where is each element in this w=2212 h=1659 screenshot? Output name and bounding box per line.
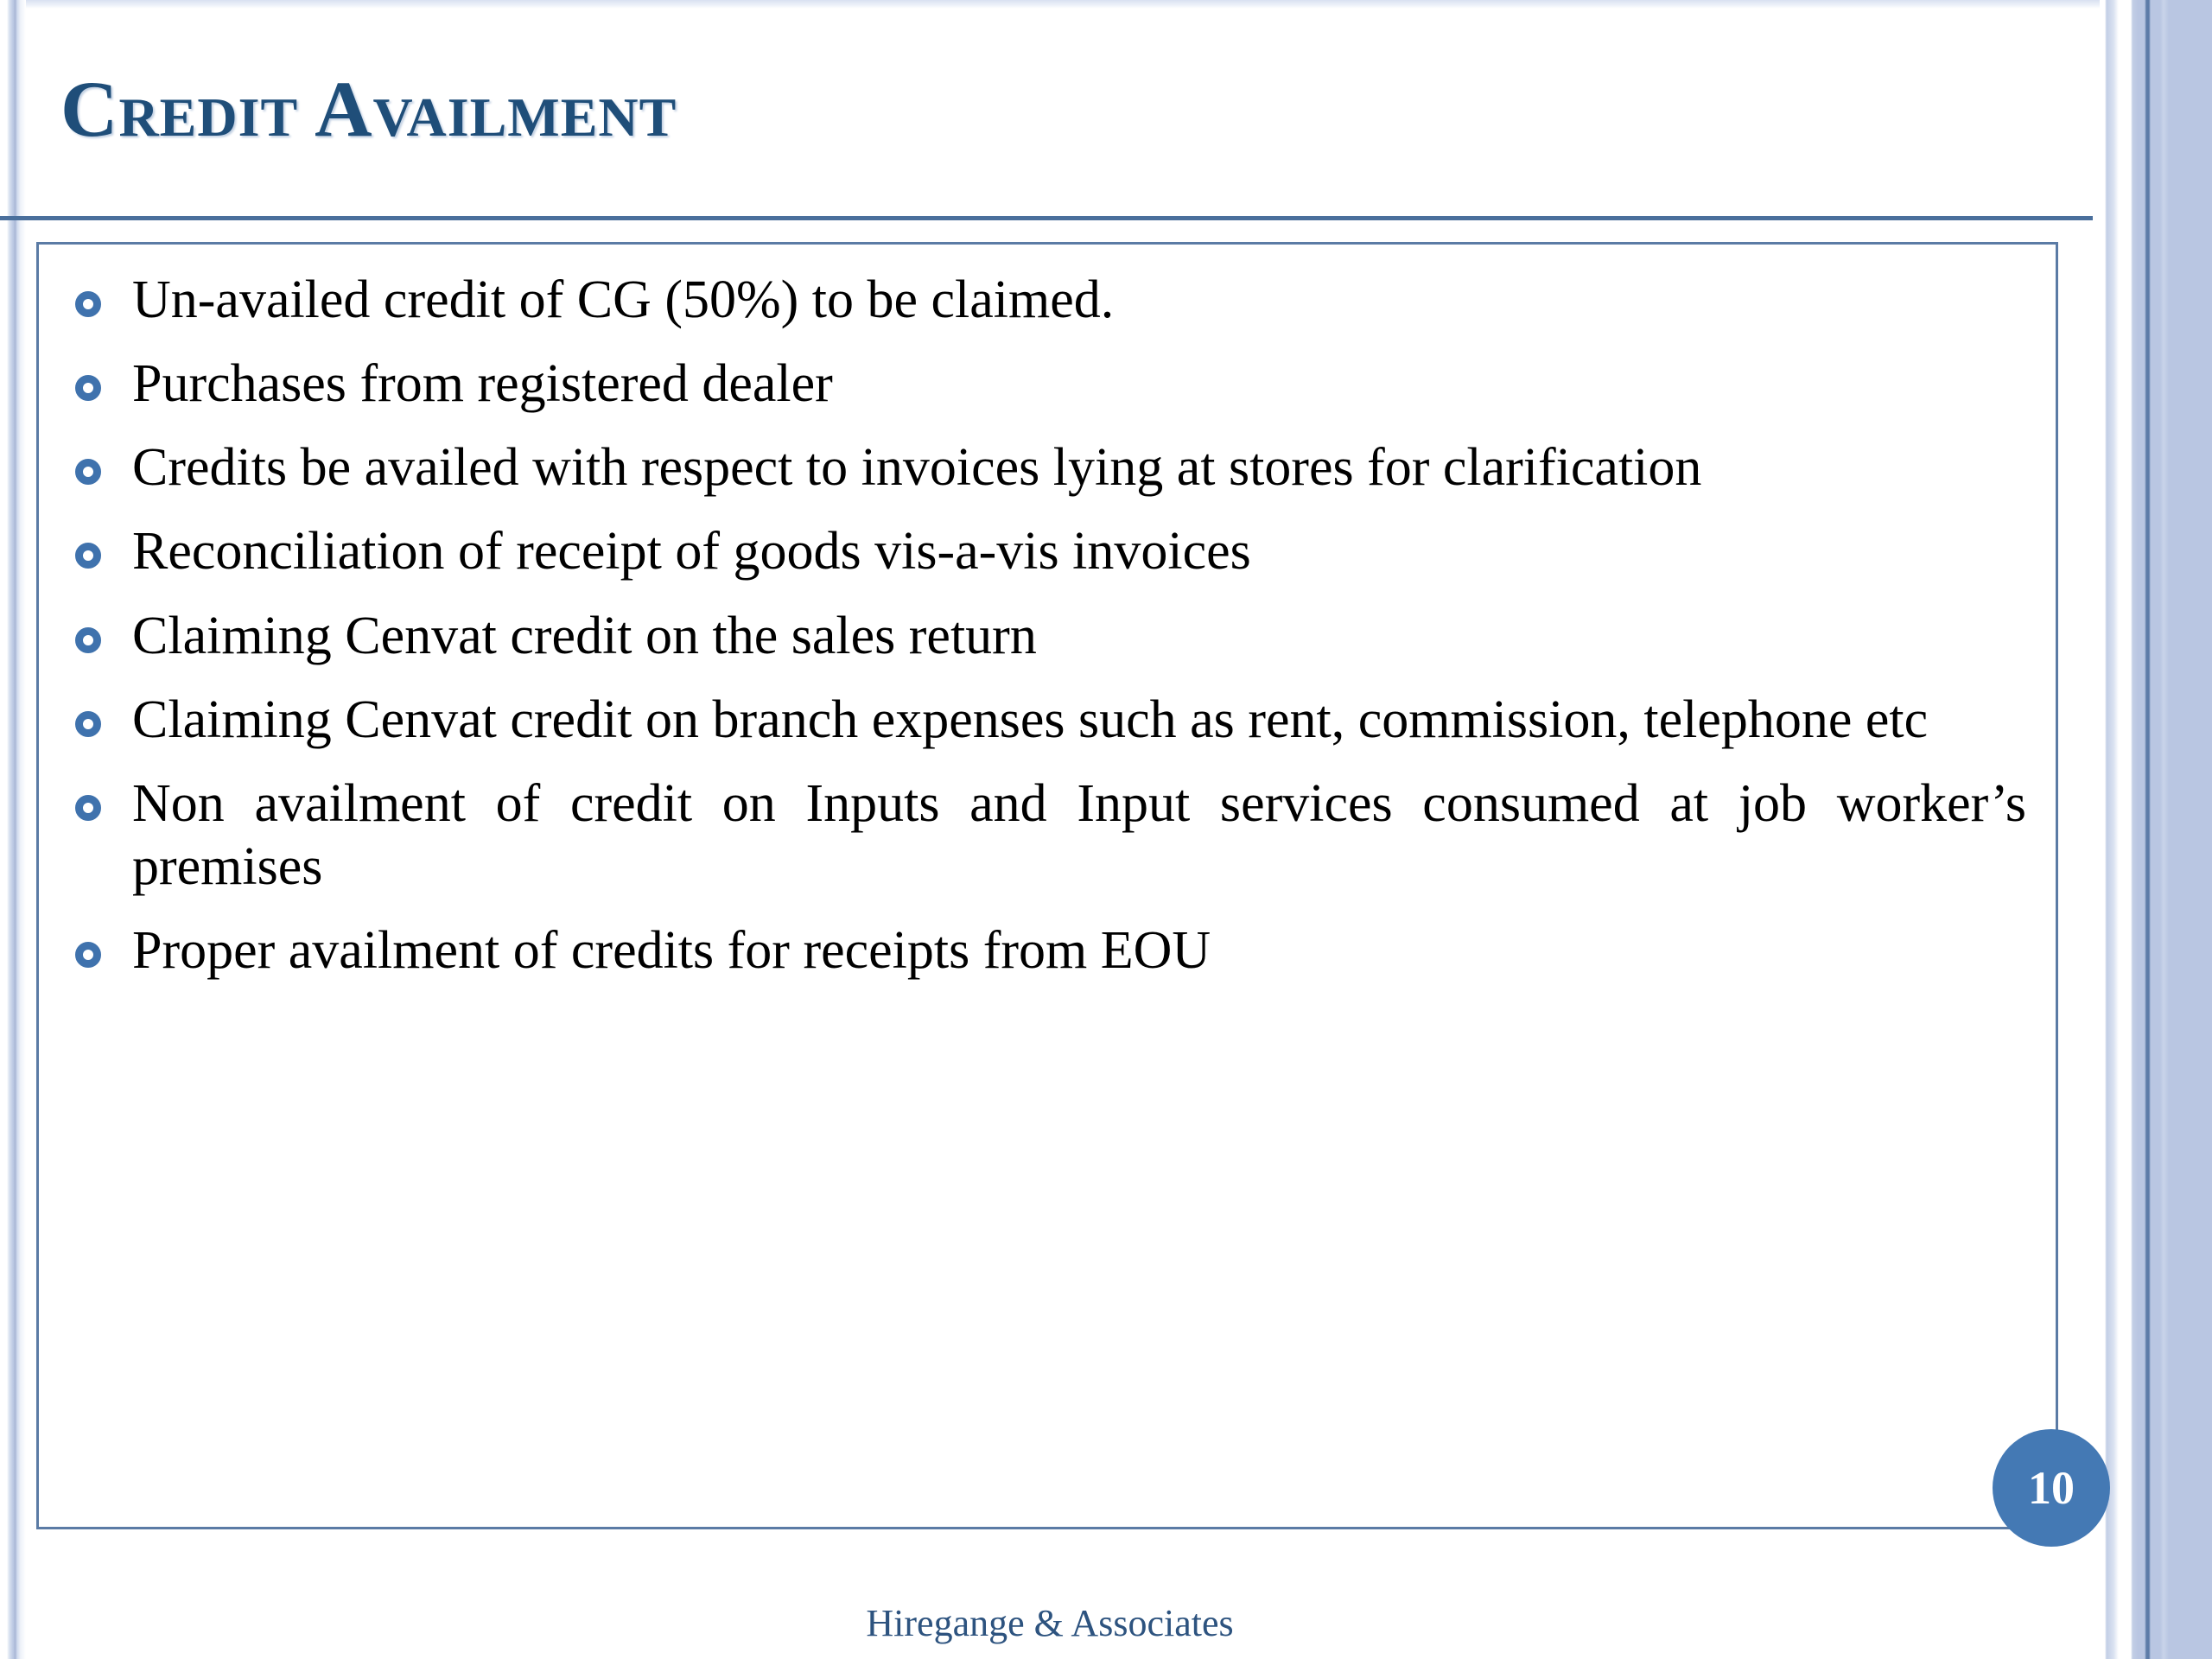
list-item-label: Proper availment of credits for receipts…: [132, 921, 1211, 980]
hollow-circle-bullet-icon: [75, 291, 101, 317]
list-item-label: Un-availed credit of CG (50%) to be clai…: [132, 270, 1114, 329]
hollow-circle-bullet-icon: [75, 795, 101, 821]
list-item: Reconciliation of receipt of goods vis-a…: [61, 520, 2026, 583]
hollow-circle-bullet-icon: [75, 627, 101, 653]
hollow-circle-bullet-icon: [75, 459, 101, 485]
page-number-badge: 10: [1993, 1429, 2110, 1547]
hollow-circle-bullet-icon: [75, 375, 101, 401]
list-item: Un-availed credit of CG (50%) to be clai…: [61, 269, 2026, 332]
page-title: Credit Availment: [60, 67, 2074, 151]
title-divider: [0, 216, 2093, 220]
list-item-label: Reconciliation of receipt of goods vis-a…: [132, 522, 1251, 581]
hollow-circle-bullet-icon: [75, 543, 101, 569]
left-edge-hairline: [14, 0, 16, 1659]
list-item: Claiming Cenvat credit on the sales retu…: [61, 605, 2026, 668]
list-item: Purchases from registered dealer: [61, 353, 2026, 416]
hollow-circle-bullet-icon: [75, 711, 101, 737]
hollow-circle-bullet-icon: [75, 942, 101, 968]
list-item: Non availment of credit on Inputs and In…: [61, 772, 2026, 899]
list-item: Proper availment of credits for receipts…: [61, 919, 2026, 982]
list-item-label: Credits be availed with respect to invoi…: [132, 438, 1701, 497]
left-edge-stripe: [7, 0, 26, 1659]
footer-text: Hiregange & Associates: [0, 1601, 2100, 1645]
list-item: Claiming Cenvat credit on branch expense…: [61, 689, 2026, 752]
list-item-label: Claiming Cenvat credit on branch expense…: [132, 690, 1928, 749]
right-edge-stripes: [2100, 0, 2212, 1659]
title-area: Credit Availment: [60, 67, 2074, 188]
page-number-label: 10: [2028, 1461, 2075, 1515]
list-item-label: Non availment of credit on Inputs and In…: [132, 774, 2026, 896]
content-box: Un-availed credit of CG (50%) to be clai…: [36, 242, 2058, 1529]
list-item: Credits be availed with respect to invoi…: [61, 436, 2026, 499]
slide-canvas: Credit Availment Un-availed credit of CG…: [0, 0, 2212, 1659]
top-edge-stripe: [26, 0, 2100, 9]
list-item-label: Claiming Cenvat credit on the sales retu…: [132, 607, 1037, 665]
bullet-list: Un-availed credit of CG (50%) to be clai…: [39, 245, 2056, 982]
list-item-label: Purchases from registered dealer: [132, 354, 833, 413]
